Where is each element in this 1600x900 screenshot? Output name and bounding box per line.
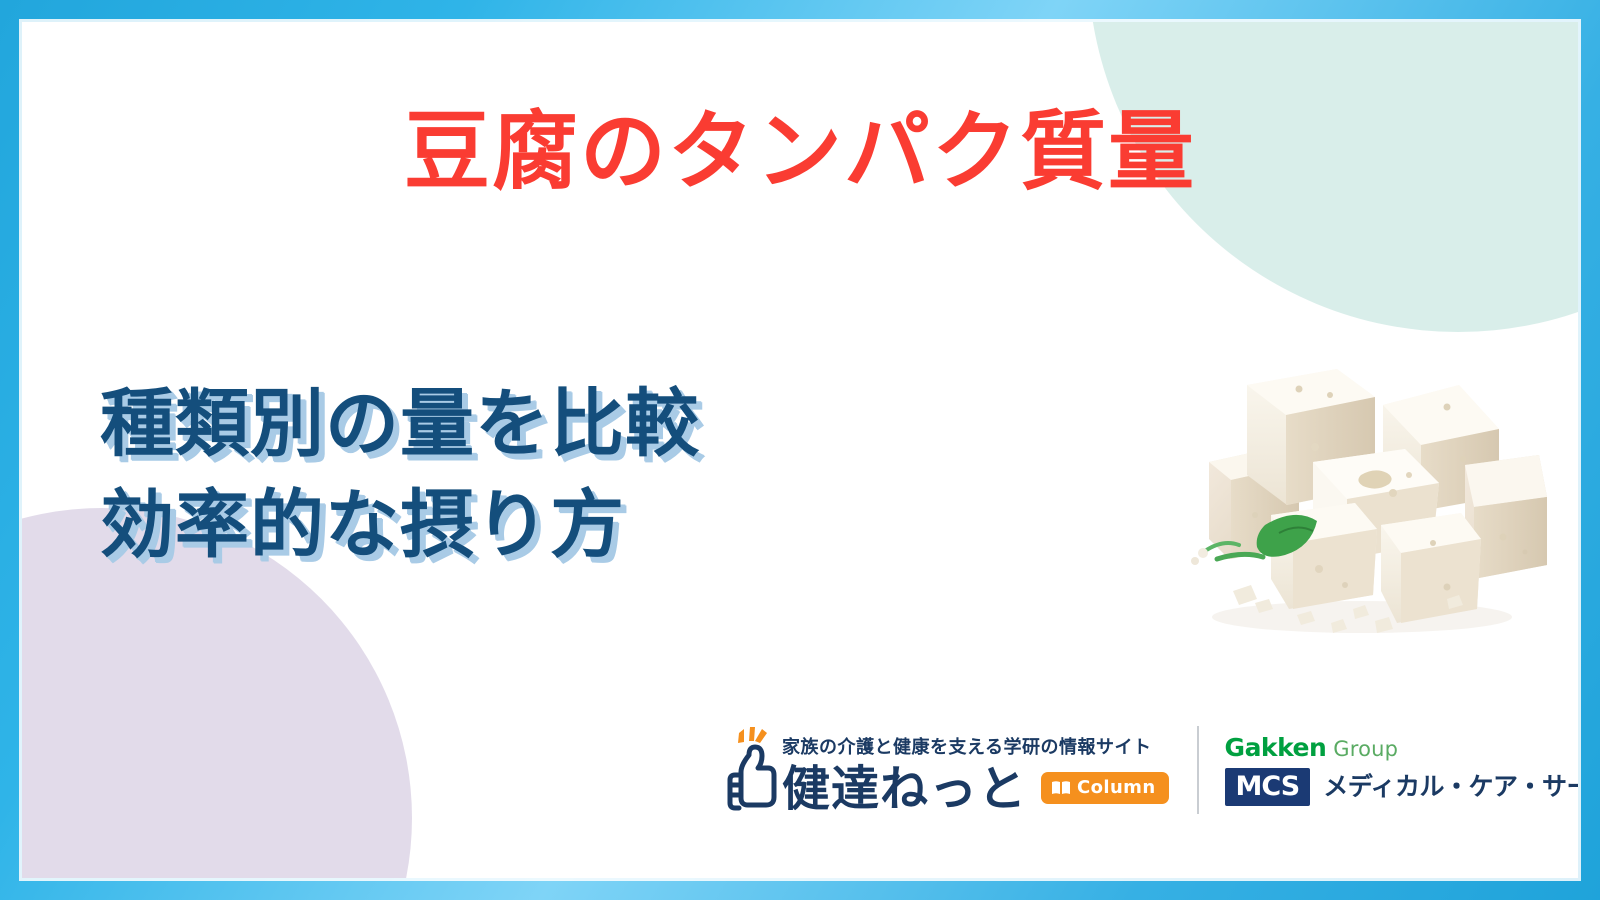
gakken-group-row: Gakken Group <box>1225 735 1578 760</box>
footer-branding: 家族の介護と健康を支える学研の情報サイト 健達ねっと Column <box>722 716 1578 824</box>
brand-tagline: 家族の介護と健康を支える学研の情報サイト <box>782 739 1151 759</box>
footer-divider <box>1197 726 1199 814</box>
sparkle-rays-icon <box>738 727 767 743</box>
column-badge[interactable]: Column <box>1041 772 1169 804</box>
mcs-logo-box: MCS <box>1225 768 1311 806</box>
open-book-icon <box>1051 780 1071 796</box>
page-title: 豆腐のタンパク質量 <box>22 102 1578 203</box>
eyecatch-banner: 豆腐のタンパク質量 種類別の量を比較 効率的な摂り方 <box>0 0 1600 900</box>
brand-name-row: 健達ねっと Column <box>782 765 1169 813</box>
kentatsu-brand-block: 家族の介護と健康を支える学研の情報サイト 健達ねっと Column <box>782 716 1169 824</box>
gakken-wordmark: Gakken <box>1225 735 1327 760</box>
thumbs-up-icon <box>722 727 780 813</box>
brand-name: 健達ねっと <box>782 765 1027 813</box>
subtitle-line-1: 種類別の量を比較 <box>100 374 700 475</box>
mcs-row: MCS メディカル・ケア・サービス <box>1225 768 1578 806</box>
mcs-company-name: メディカル・ケア・サービス <box>1323 774 1578 799</box>
gakken-group-label: Group <box>1333 739 1398 760</box>
column-badge-label: Column <box>1077 779 1156 797</box>
gakken-group-block: Gakken Group MCS メディカル・ケア・サービス <box>1225 716 1578 824</box>
subtitle-line-2: 効率的な摂り方 <box>100 475 700 576</box>
banner-canvas: 豆腐のタンパク質量 種類別の量を比較 効率的な摂り方 <box>22 22 1578 878</box>
brand-tagline-row: 家族の介護と健康を支える学研の情報サイト <box>782 727 1169 759</box>
tofu-cubes-photo <box>1147 347 1562 647</box>
page-subtitle: 種類別の量を比較 効率的な摂り方 <box>100 374 700 575</box>
